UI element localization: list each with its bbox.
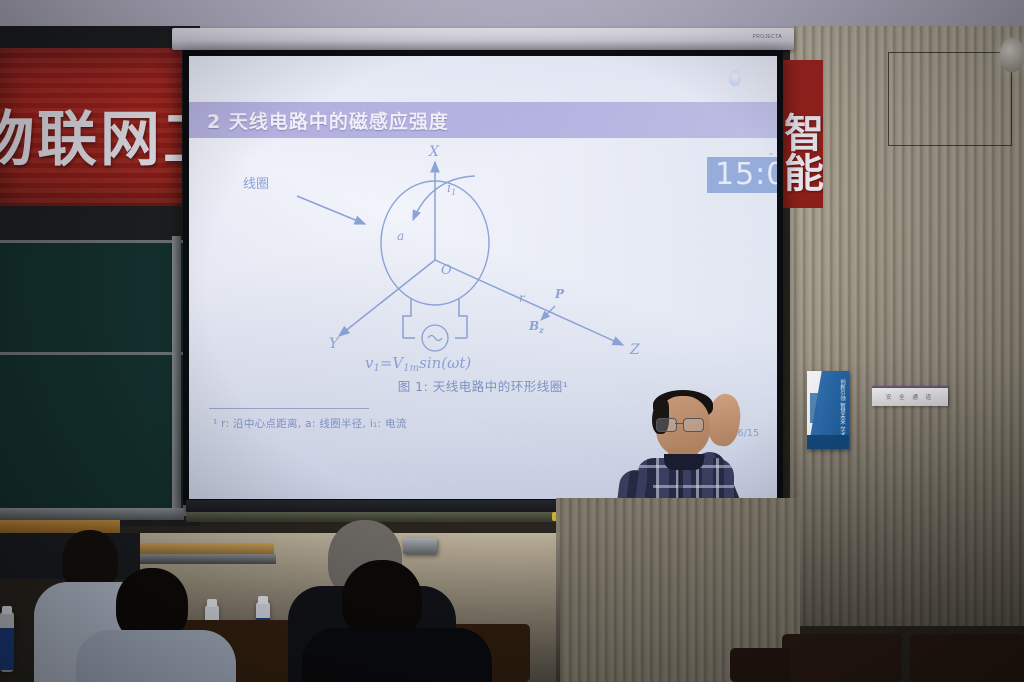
- water-bottle: [0, 612, 14, 672]
- empty-chair-back: [910, 634, 1024, 682]
- label-axis-x: X: [428, 144, 440, 160]
- red-banner-right: 智能: [783, 60, 823, 208]
- wall-speaker-icon: [403, 538, 437, 554]
- label-origin: O: [441, 263, 452, 278]
- chalkboard-lower: [0, 352, 186, 516]
- light-reflection-icon: [729, 70, 741, 86]
- housing-label: PROJECTA: [753, 34, 783, 40]
- label-radius: a: [397, 229, 404, 243]
- footnote-rule: [209, 408, 369, 409]
- slide-figure: X Y Z O a r P Bz i1 线圈 v1=V1msin(ωt): [189, 140, 777, 390]
- label-distance: r: [519, 291, 526, 305]
- wall-shelf-underside: [126, 554, 276, 564]
- poster-footer: [807, 435, 849, 449]
- label-axis-z: Z: [629, 342, 640, 358]
- slide-title-bar: 2 天线电路中的磁感应强度: [189, 102, 777, 138]
- label-source-formula: v1=V1msin(ωt): [365, 354, 471, 374]
- label-field-bz: Bz: [528, 319, 544, 335]
- loop-antenna-diagram: X Y Z O a r P Bz i1 线圈 v1=V1msin(ωt): [189, 140, 777, 390]
- figure-footnote: ¹ r: 沿中心点距离, a: 线圈半径, i₁: 电流: [213, 416, 407, 431]
- glasses-icon: [656, 418, 704, 430]
- audience-body: [76, 630, 236, 682]
- label-coil: 线圈: [243, 177, 269, 192]
- empty-chair-back: [782, 634, 902, 682]
- label-point-p: P: [554, 287, 565, 301]
- slide-title: 2 天线电路中的磁感应强度: [189, 107, 449, 134]
- banner-left-text: 物联网工: [0, 110, 182, 170]
- red-banner-left: 物联网工: [0, 48, 182, 206]
- wall-sign: 安 全 通 道: [872, 386, 948, 406]
- poster-spine: [810, 393, 818, 423]
- wall-poster: 创新引领 智慧未来 学术交流: [807, 371, 849, 449]
- empty-chair-back: [730, 648, 790, 682]
- chalkboard-frame: [172, 236, 181, 516]
- shirt-collar: [664, 454, 704, 470]
- lecture-hall-screenshot: 物联网工 智能 PROJECTA 2 天线电路中的磁感应强度 ⌁ 15:0: [0, 0, 1024, 682]
- chalkboard-ledge: [0, 508, 184, 520]
- audience-body: [302, 628, 492, 682]
- wall-sign-text: 安 全 通 道: [886, 393, 934, 401]
- wall-light-icon: [1000, 38, 1024, 72]
- chalkboard-upper: [0, 240, 186, 356]
- banner-right-text: 智能: [783, 112, 819, 192]
- label-axis-y: Y: [329, 336, 340, 352]
- wall-access-panel: [888, 52, 1012, 146]
- projection-screen-housing: PROJECTA: [172, 28, 794, 50]
